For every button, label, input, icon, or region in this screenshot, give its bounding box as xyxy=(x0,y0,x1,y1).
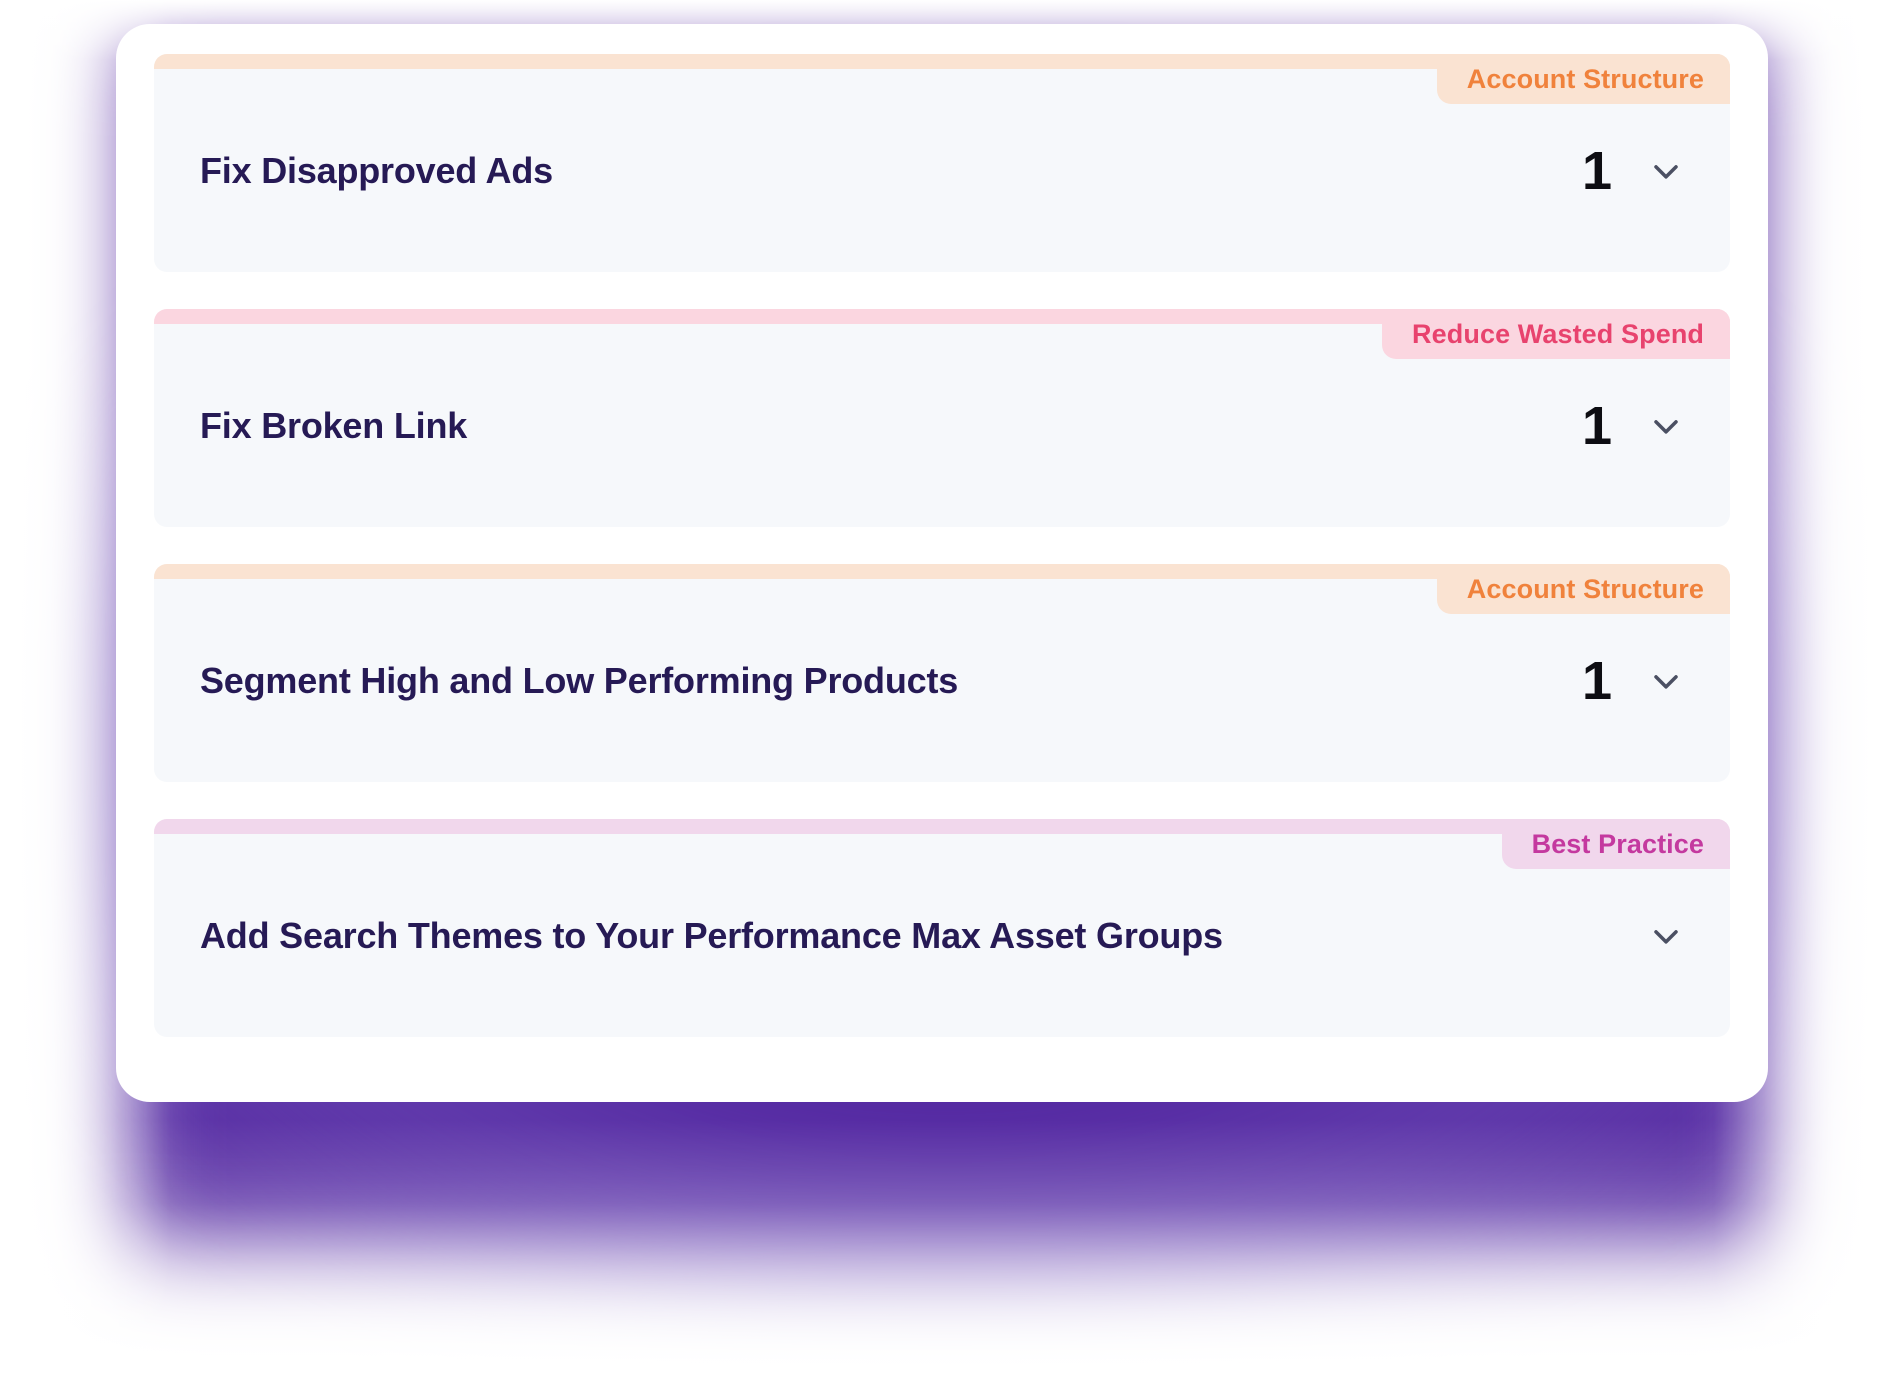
card-right-group: 1 xyxy=(1566,654,1686,708)
chevron-down-icon[interactable] xyxy=(1646,151,1686,191)
card-body: Fix Broken Link1 xyxy=(154,324,1730,527)
recommendation-count: 1 xyxy=(1582,654,1612,708)
recommendation-count: 1 xyxy=(1582,144,1612,198)
card-body: Fix Disapproved Ads1 xyxy=(154,69,1730,272)
recommendation-card[interactable]: Account StructureSegment High and Low Pe… xyxy=(154,564,1730,782)
recommendation-card[interactable]: Account StructureFix Disapproved Ads1 xyxy=(154,54,1730,272)
card-right-group xyxy=(1566,916,1686,956)
recommendation-count: 1 xyxy=(1582,399,1612,453)
card-right-group: 1 xyxy=(1566,399,1686,453)
chevron-down-icon[interactable] xyxy=(1646,661,1686,701)
recommendation-title: Fix Broken Link xyxy=(200,405,1566,446)
recommendation-list: Account StructureFix Disapproved Ads1Red… xyxy=(154,54,1730,1037)
recommendation-card[interactable]: Reduce Wasted SpendFix Broken Link1 xyxy=(154,309,1730,527)
card-body: Add Search Themes to Your Performance Ma… xyxy=(154,834,1730,1037)
recommendation-title: Fix Disapproved Ads xyxy=(200,150,1566,191)
recommendation-card[interactable]: Best PracticeAdd Search Themes to Your P… xyxy=(154,819,1730,1037)
recommendations-panel: Account StructureFix Disapproved Ads1Red… xyxy=(116,24,1768,1102)
card-category-stripe xyxy=(154,819,1730,834)
card-right-group: 1 xyxy=(1566,144,1686,198)
recommendation-title: Add Search Themes to Your Performance Ma… xyxy=(200,915,1566,956)
glow-fade-bottom xyxy=(0,1120,1884,1399)
card-body: Segment High and Low Performing Products… xyxy=(154,579,1730,782)
chevron-down-icon[interactable] xyxy=(1646,916,1686,956)
chevron-down-icon[interactable] xyxy=(1646,406,1686,446)
recommendation-title: Segment High and Low Performing Products xyxy=(200,660,1566,701)
